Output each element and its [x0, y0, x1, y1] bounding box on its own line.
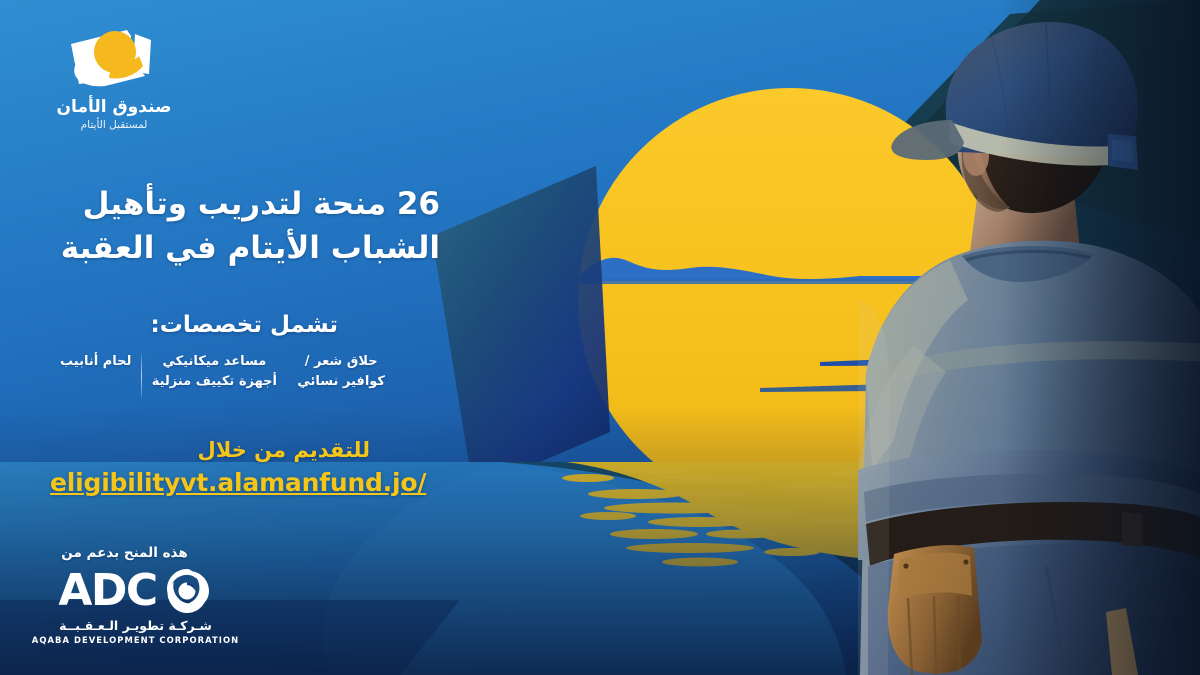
aman-fund-mark	[59, 22, 169, 94]
specialization-item-welding: لحام أنابيب	[50, 352, 141, 372]
adc-logo: ADC	[28, 565, 243, 617]
specialization-item-hairdressing: حلاق شعر / كوافير نسائي	[287, 352, 395, 391]
specialization-hairdressing-line2: كوافير نسائي	[297, 372, 385, 392]
specializations-list: لحام أنابيب مساعد ميكانيكي أجهزة تكييف م…	[50, 352, 395, 398]
specialization-item-mechanic: مساعد ميكانيكي أجهزة تكييف منزلية	[142, 352, 287, 391]
sponsor-lead-text: هذه المنح بدعم من	[28, 545, 243, 561]
aman-fund-name: صندوق الأمان	[34, 98, 194, 117]
promotional-banner: صندوق الأمان لمستقبل الأيتام 26 منحة لتد…	[0, 0, 1200, 675]
specialization-hairdressing-line1: حلاق شعر /	[305, 354, 378, 369]
specializations-title: تشمل تخصصات:	[50, 312, 338, 338]
apply-url-link[interactable]: eligibilityvt.alamanfund.jo/	[50, 468, 380, 497]
headline-line-2: الشباب الأيتام في العقبة	[50, 226, 440, 270]
apply-label: للتقديم من خلال	[50, 438, 370, 462]
adc-arabic-name: شـركـة تطويـر الـعـقـبــة	[28, 618, 243, 633]
adc-wordmark: ADC	[58, 569, 156, 613]
specialization-mechanic-line2: أجهزة تكييف منزلية	[152, 372, 277, 392]
headline-line-1: 26 منحة لتدريب وتأهيل	[50, 182, 440, 226]
specialization-welding-line1: لحام أنابيب	[60, 354, 131, 369]
footer-sponsor: هذه المنح بدعم من ADC شـركـة تطويـر الـع…	[28, 545, 243, 645]
aman-fund-subtitle: لمستقبل الأيتام	[34, 119, 194, 131]
specialization-mechanic-line1: مساعد ميكانيكي	[162, 354, 266, 369]
aman-fund-logo: صندوق الأمان لمستقبل الأيتام	[34, 22, 194, 142]
adc-english-name: AQABA DEVELOPMENT CORPORATION	[28, 635, 243, 645]
adc-swirl-mark	[161, 565, 213, 617]
worker-figure-back-view	[850, 0, 1200, 675]
headline: 26 منحة لتدريب وتأهيل الشباب الأيتام في …	[50, 182, 440, 270]
